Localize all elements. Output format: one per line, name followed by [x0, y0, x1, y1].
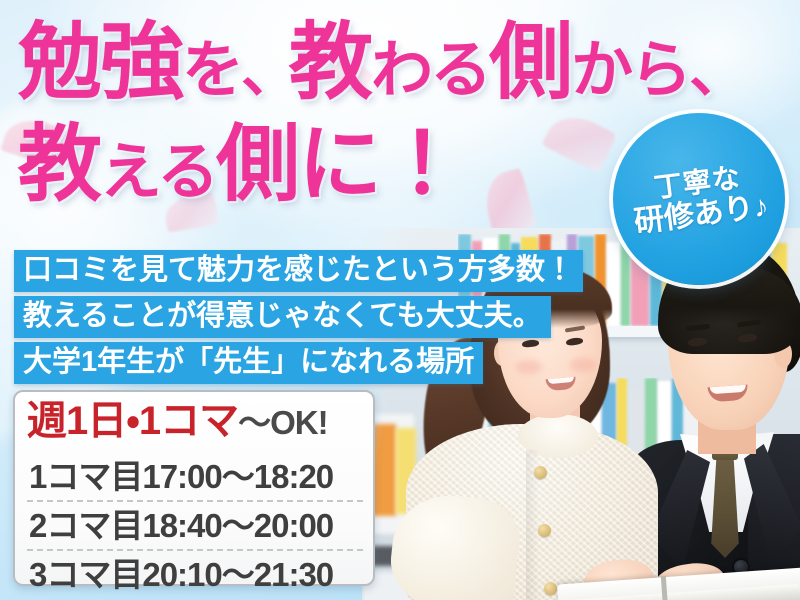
feature-band-row-1: 口コミを見て魅力を感じたという方多数！ — [14, 250, 583, 292]
recruitment-banner: 勉強を、教わる側から、 教える側に！ 丁寧な 研修あり♪ 口コミを見て魅力を感じ… — [0, 0, 800, 600]
female-tutor-button — [544, 582, 557, 595]
shift-ok-text: 〜OK! — [238, 404, 328, 441]
headline-line-1-comma-2: 、 — [689, 39, 737, 104]
headline-line-1-kanji-3: 側 — [489, 15, 571, 109]
feature-band-row-3: 大学1年生が「先生」になれる場所 — [14, 342, 583, 384]
female-tutor-button — [534, 466, 547, 479]
training-available-badge-text: 丁寧な 研修あり♪ — [628, 159, 770, 240]
headline-line-1-kanji-2: 教 — [289, 15, 371, 109]
female-tutor-button — [538, 524, 551, 537]
headline-line-1: 勉強を、教わる側から、 — [18, 16, 800, 118]
headline-line-1-kanji-1: 勉強 — [18, 15, 182, 109]
headline-line-2-kana-1: える — [100, 138, 216, 207]
feature-band-2: 教えることが得意じゃなくても大丈夫。 — [14, 296, 551, 338]
schedule-card-headline: 週1日・1コマ〜OK! — [27, 398, 363, 453]
shift-frequency-text: 週1日・1コマ — [27, 399, 238, 443]
headline-line-2-kanji-1: 教 — [18, 117, 100, 211]
schedule-card: 週1日・1コマ〜OK! 1コマ目17:00〜18:20 2コマ目18:40〜20… — [13, 390, 375, 586]
headline-line-1-kana-3: から — [571, 36, 689, 105]
headline-line-1-kana-1: を — [182, 36, 241, 105]
headline-line-1-kana-2: わる — [371, 36, 489, 105]
headline-line-2-tail: に！ — [298, 117, 462, 211]
training-available-badge: 丁寧な 研修あり♪ — [613, 113, 785, 285]
schedule-slot-1: 1コマ目17:00〜18:20 — [27, 453, 363, 500]
feature-band-3: 大学1年生が「先生」になれる場所 — [14, 342, 483, 384]
headline-line-2-kanji-2: 側 — [216, 117, 298, 211]
feature-bands: 口コミを見て魅力を感じたという方多数！ 教えることが得意じゃなくても大丈夫。 大… — [14, 250, 583, 388]
schedule-slot-2: 2コマ目18:40〜20:00 — [27, 500, 363, 549]
feature-band-1: 口コミを見て魅力を感じたという方多数！ — [14, 250, 583, 292]
headline-line-1-comma-1: 、 — [241, 39, 289, 104]
feature-band-row-2: 教えることが得意じゃなくても大丈夫。 — [14, 296, 583, 338]
schedule-slot-3: 3コマ目20:10〜21:30 — [27, 549, 363, 598]
